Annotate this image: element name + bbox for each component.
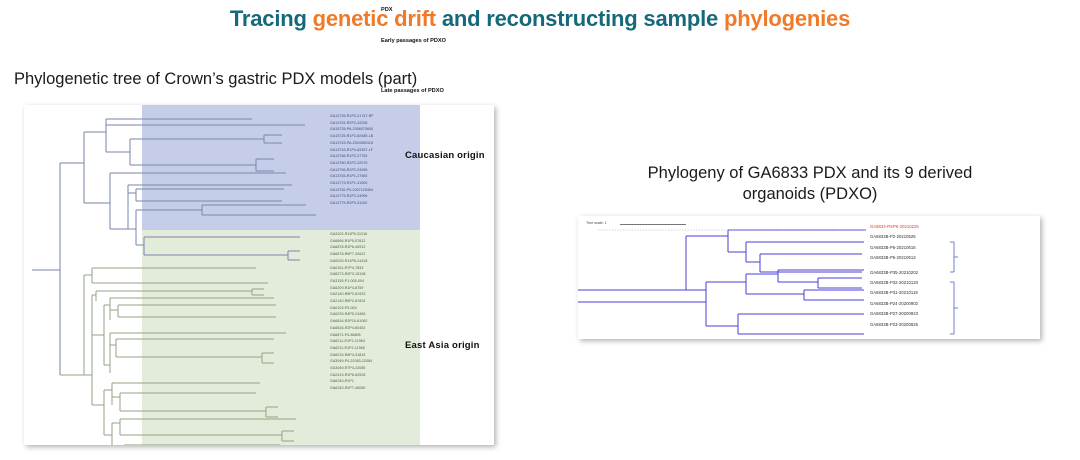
pdxo-tip-label-list: GA6833-RSP6-20210225GA6833B-P2-20210526G… <box>870 222 919 330</box>
caucasian-tip-label-list: GA13739-R1P0-21747-RFGA13761-R2P2-22028G… <box>330 113 374 207</box>
tip-label: GA13743-PA-2004080118 <box>330 140 374 147</box>
title-segment-4: phylogenies <box>724 6 850 31</box>
clade-tag-east-asia: East Asia origin <box>405 340 480 351</box>
pdxo-tip-label: GA6833B-P27-20200923 <box>870 309 919 319</box>
tip-label: GA15725-R1P2-82485-LB <box>330 133 374 140</box>
pdxo-phylogeny-figure: Tree scale: 1 <box>578 216 1040 339</box>
tip-label: GA15725-PA-2008070600 <box>330 126 374 133</box>
group-label-early-passages: Early passages of PDXO <box>381 38 446 44</box>
tip-label: GA6816-R2P4-80452 <box>330 325 372 332</box>
tip-label: GA13766-R1P2-27754 <box>330 153 374 160</box>
tip-label: GA6871-P4-86805 <box>330 332 372 339</box>
tip-label: GA6896-R1P5-57812 <box>330 238 372 245</box>
tip-label: GA6211-R1P2-11963 <box>330 338 372 345</box>
tip-label: GA6215-R6P4-31819 <box>330 352 372 359</box>
tip-label: GA13782-P0-2007120454 <box>330 187 374 194</box>
right-figure-caption: Phylogeny of GA6833 PDX and its 9 derive… <box>600 163 1020 205</box>
tip-label: GA13779-R1P1-31500 <box>330 180 374 187</box>
tip-label: GA13756-R2P2-24995 <box>330 167 374 174</box>
title-segment-1: Tracing <box>230 6 313 31</box>
left-figure-caption: Phylogenetic tree of Crown’s gastric PDX… <box>14 70 417 89</box>
pdxo-tip-label: GA6833-RSP6-20210225 <box>870 222 919 232</box>
tip-label: GA6240-R1P1 <box>330 378 372 385</box>
group-label-pdx: PDX <box>381 7 393 13</box>
tip-label: GA6273-R2P3-15108 <box>330 271 372 278</box>
group-label-late-passages: Late passages of PDXO <box>381 88 444 94</box>
tip-label: GA3049-P4-22083-22084 <box>330 358 372 365</box>
tip-label: GA13743-R1P4-83357-LF <box>330 147 374 154</box>
tip-label: GA2140-R6P2-81923 <box>330 291 372 298</box>
tip-label: GA13760-R2P2-22075 <box>330 160 374 167</box>
pdxo-tip-label: GA6833B-P32-20210120 <box>870 278 919 288</box>
pdxo-tip-label: GA6833B-P6-20210616 <box>870 243 919 253</box>
pdxo-tip-label: GA6833B-P24-20200902 <box>870 299 919 309</box>
tip-label: GA6211-R1P2-11965 <box>330 345 372 352</box>
tip-label: GA2419-R1P6-62526 <box>330 372 372 379</box>
tip-label: GA6239-R4P5-24489 <box>330 311 372 318</box>
tip-label: GA6878-R1P6-46912 <box>330 244 372 251</box>
right-caption-line-1: Phylogeny of GA6833 PDX and its 9 derive… <box>600 163 1020 184</box>
dendrogram-right <box>578 216 1040 339</box>
tip-label: GA6878-R6P7-32622 <box>330 251 372 258</box>
tip-label: GA6240-R2P7-46080 <box>330 385 372 392</box>
tip-label: GA13763-R1P1-27563 <box>330 173 374 180</box>
tip-label: GA0151-R7P4-7833 <box>330 265 372 272</box>
page-title: Tracing genetic drift and reconstructing… <box>0 6 1080 32</box>
tip-label: GA13739-R1P0-21747-RF <box>330 113 374 120</box>
tip-label: GA2140-R6P2-81924 <box>330 298 372 305</box>
tip-label: GA13761-R2P2-22028 <box>330 120 374 127</box>
tip-label: GA3155-P1-005-004 <box>330 278 372 285</box>
tip-label: GA3102-R11P5-31316 <box>330 231 372 238</box>
title-segment-3: and reconstructing sample <box>436 6 724 31</box>
tip-label: GA0025-R14P6-24418 <box>330 258 372 265</box>
pdxo-tip-label: GA6833B-P2-20210526 <box>870 232 919 242</box>
tip-label: GA13775-R2P2-24996 <box>330 193 374 200</box>
east-asia-tip-label-list: GA3102-R11P5-31316GA6896-R1P5-57812GA687… <box>330 231 372 392</box>
tip-label: GA13775-R2P3-31100 <box>330 200 374 207</box>
clade-tag-caucasian: Caucasian origin <box>405 150 485 161</box>
pdxo-tip-label: GA6833B-P23-20200826 <box>870 320 919 330</box>
pdxo-tip-label: GA6833B-P31-20210118 <box>870 288 919 298</box>
tip-label: GA6209-R1P4-8759 <box>330 285 372 292</box>
tip-label: GA6816-R2P10-61062 <box>330 318 372 325</box>
tip-label: GA3049-R7P4-22085 <box>330 365 372 372</box>
pdxo-tip-label: GA6833B-P35-20210202 <box>870 268 919 278</box>
tip-label: GA0103-P3-004 <box>330 305 372 312</box>
title-segment-2: genetic drift <box>313 6 436 31</box>
pdxo-tip-label: GA6833B-P5-20210613 <box>870 253 919 263</box>
right-caption-line-2: organoids (PDXO) <box>600 184 1020 205</box>
